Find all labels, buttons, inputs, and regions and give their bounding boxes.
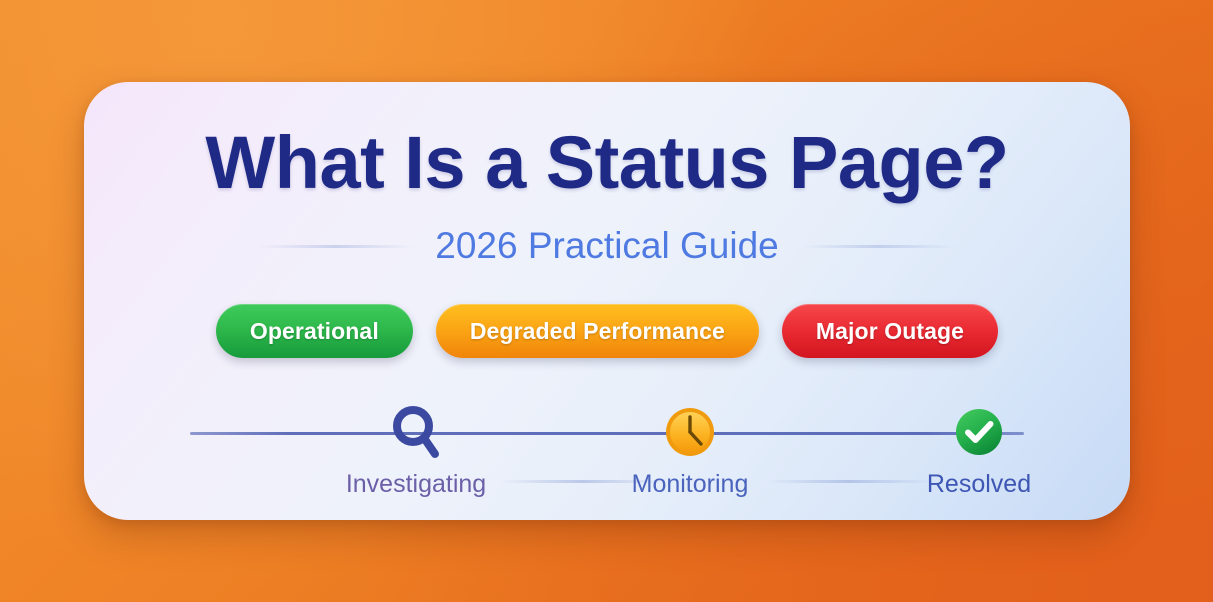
infographic-card: What Is a Status Page? 2026 Practical Gu… <box>84 82 1130 520</box>
page-title: What Is a Status Page? <box>84 120 1130 205</box>
timeline-step-label: Resolved <box>879 470 1079 499</box>
magnifying-glass-icon <box>316 400 516 464</box>
status-badge-major-outage[interactable]: Major Outage <box>782 304 998 358</box>
timeline-step-investigating[interactable]: Investigating <box>316 400 516 499</box>
timeline-step-resolved[interactable]: Resolved <box>879 400 1079 499</box>
subtitle-rule-right <box>801 245 956 248</box>
clock-icon <box>590 400 790 464</box>
status-badge-degraded-performance[interactable]: Degraded Performance <box>436 304 759 358</box>
page-subtitle: 2026 Practical Guide <box>435 225 778 267</box>
infographic-page: { "card": { "title": "What Is a Status P… <box>0 0 1213 602</box>
timeline-step-label: Investigating <box>316 470 516 499</box>
subtitle-rule-left <box>258 245 413 248</box>
subtitle-row: 2026 Practical Guide <box>84 225 1130 267</box>
status-badge-group: Operational Degraded Performance Major O… <box>84 304 1130 358</box>
status-badge-operational[interactable]: Operational <box>216 304 413 358</box>
incident-timeline: Investigating <box>190 400 1024 500</box>
timeline-step-label: Monitoring <box>590 470 790 499</box>
check-circle-icon <box>879 400 1079 464</box>
timeline-step-monitoring[interactable]: Monitoring <box>590 400 790 499</box>
